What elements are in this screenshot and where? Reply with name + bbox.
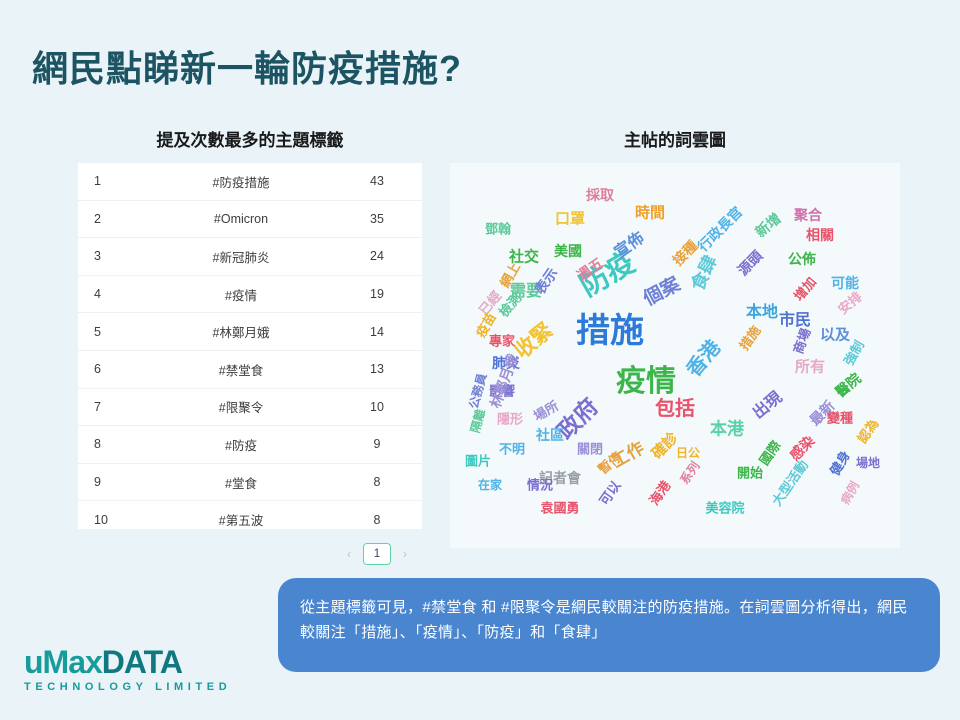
wordcloud-word: 社區 bbox=[536, 428, 564, 442]
wordcloud-word: 系列 bbox=[678, 460, 702, 487]
wordcloud-word: 本地 bbox=[746, 305, 778, 321]
wordcloud-word: 疫情 bbox=[616, 367, 676, 397]
cell-hashtag: #防疫措施 bbox=[150, 172, 332, 191]
wordcloud-word: 變種 bbox=[827, 412, 853, 425]
wordcloud-word: 時間 bbox=[635, 206, 665, 221]
cell-count: 13 bbox=[332, 362, 422, 376]
cell-rank: 1 bbox=[78, 174, 150, 188]
wordcloud-word: 公佈 bbox=[788, 252, 816, 266]
cell-rank: 10 bbox=[78, 513, 150, 527]
wordcloud-panel: 措施疫情防疫政府收緊香港包括個案食肆本港本地市民以及所有需要工作社交出現記者會確… bbox=[450, 163, 900, 548]
cell-hashtag: #林鄭月娥 bbox=[150, 322, 332, 341]
wordcloud-word: 行政長官 bbox=[695, 204, 744, 253]
table-row[interactable]: 3#新冠肺炎24 bbox=[78, 238, 422, 276]
wordcloud-word: 場地 bbox=[856, 457, 880, 469]
table-row[interactable]: 4#疫情19 bbox=[78, 276, 422, 314]
wordcloud-word: 個案 bbox=[641, 275, 683, 310]
table-row[interactable]: 7#限聚令10 bbox=[78, 389, 422, 427]
summary-callout: 從主題標籤可見，#禁堂食 和 #限聚令是網民較關注的防疫措施。在詞雲圖分析得出，… bbox=[278, 578, 940, 672]
cell-rank: 9 bbox=[78, 475, 150, 489]
cell-count: 10 bbox=[332, 400, 422, 414]
wordcloud-word: 聚合 bbox=[794, 208, 822, 222]
summary-text: 從主題標籤可見，#禁堂食 和 #限聚令是網民較關注的防疫措施。在詞雲圖分析得出，… bbox=[300, 596, 918, 646]
pagination-next-icon[interactable]: › bbox=[398, 543, 412, 565]
wordcloud-word: 美國 bbox=[554, 244, 582, 258]
wordcloud-word: 圖片 bbox=[465, 455, 491, 468]
pagination-current-page[interactable]: 1 bbox=[363, 543, 391, 565]
wordcloud-word: 在家 bbox=[478, 479, 502, 491]
cell-hashtag: #禁堂食 bbox=[150, 360, 332, 379]
table-row[interactable]: 8#防疫9 bbox=[78, 426, 422, 464]
wordcloud-word: 接種 bbox=[670, 238, 700, 268]
cell-hashtag: #新冠肺炎 bbox=[150, 247, 332, 266]
cell-count: 9 bbox=[332, 437, 422, 451]
wordcloud-word: 措施 bbox=[576, 314, 644, 348]
hashtags-section-heading: 提及次數最多的主題標籤 bbox=[78, 126, 422, 151]
wordcloud-word: 感染 bbox=[787, 433, 817, 463]
wordcloud-word: 相關 bbox=[806, 228, 834, 242]
wordcloud-word: 採取 bbox=[586, 188, 614, 202]
cell-count: 14 bbox=[332, 325, 422, 339]
wordcloud-word: 口罩 bbox=[555, 212, 585, 227]
wordcloud-word: 表示 bbox=[532, 266, 560, 297]
wordcloud-word: 可以 bbox=[597, 479, 623, 508]
wordcloud-word: 日公 bbox=[676, 447, 700, 459]
wordcloud-word: 大型活動 bbox=[770, 458, 810, 508]
wordcloud-word: 醫院 bbox=[833, 371, 863, 400]
cell-count: 19 bbox=[332, 287, 422, 301]
logo-wordmark: uMaxDATA bbox=[24, 646, 231, 678]
table-row[interactable]: 6#禁堂食13 bbox=[78, 351, 422, 389]
logo-wordmark-bold: DATA bbox=[102, 644, 182, 680]
wordcloud-word: 美容院 bbox=[705, 502, 744, 515]
wordcloud-word: 國際 bbox=[757, 439, 783, 468]
wordcloud-section-heading: 主帖的詞雲圖 bbox=[450, 126, 900, 151]
cell-count: 8 bbox=[332, 475, 422, 489]
wordcloud-word: 開始 bbox=[737, 467, 763, 480]
wordcloud-word: 安排 bbox=[836, 290, 864, 317]
wordcloud-word: 關閉 bbox=[577, 443, 603, 456]
cell-count: 8 bbox=[332, 513, 422, 527]
wordcloud-word: 食肆 bbox=[688, 253, 720, 293]
cell-hashtag: #防疫 bbox=[150, 435, 332, 454]
wordcloud-word: 袁國勇 bbox=[540, 502, 579, 515]
cell-rank: 8 bbox=[78, 437, 150, 451]
wordcloud-word: 所有 bbox=[795, 360, 825, 375]
cell-rank: 7 bbox=[78, 400, 150, 414]
cell-count: 43 bbox=[332, 174, 422, 188]
cell-count: 35 bbox=[332, 212, 422, 226]
wordcloud-word: 包括 bbox=[655, 399, 695, 419]
wordcloud-word: 海港 bbox=[647, 479, 673, 508]
table-row[interactable]: 10#第五波8 bbox=[78, 501, 422, 538]
wordcloud-word: 隔離 bbox=[469, 408, 487, 434]
wordcloud-word: 專家 bbox=[489, 335, 515, 348]
wordcloud-word: 香港 bbox=[683, 337, 724, 380]
wordcloud-word: 商場 bbox=[791, 327, 812, 356]
wordcloud-word: 場所 bbox=[531, 399, 560, 423]
wordcloud-word: 出現 bbox=[751, 390, 786, 423]
table-row[interactable]: 1#防疫措施43 bbox=[78, 163, 422, 201]
wordcloud-word: 健身 bbox=[828, 448, 852, 477]
cell-rank: 4 bbox=[78, 287, 150, 301]
hashtag-table: 1#防疫措施432#Omicron353#新冠肺炎244#疫情195#林鄭月娥1… bbox=[78, 163, 422, 529]
logo-tagline: TECHNOLOGY LIMITED bbox=[24, 681, 231, 693]
wordcloud-word: 認為 bbox=[855, 417, 881, 446]
cell-rank: 2 bbox=[78, 212, 150, 226]
table-row[interactable]: 9#堂食8 bbox=[78, 464, 422, 502]
wordcloud-word: 市民 bbox=[779, 313, 811, 329]
cell-count: 24 bbox=[332, 249, 422, 263]
pagination: ‹ 1 › bbox=[78, 543, 422, 565]
page-title: 網民點睇新一輪防疫措施? bbox=[32, 40, 462, 92]
cell-hashtag: #Omicron bbox=[150, 212, 332, 226]
cell-hashtag: #第五波 bbox=[150, 510, 332, 529]
wordcloud-word: 以及 bbox=[820, 328, 850, 343]
wordcloud-word: 不明 bbox=[499, 443, 525, 456]
cell-rank: 6 bbox=[78, 362, 150, 376]
wordcloud-word: 情況 bbox=[527, 479, 553, 492]
wordcloud-word: 源頭 bbox=[735, 248, 765, 278]
wordcloud-word: 公務員 bbox=[468, 372, 489, 410]
cell-hashtag: #堂食 bbox=[150, 473, 332, 492]
cell-hashtag: #限聚令 bbox=[150, 397, 332, 416]
company-logo: uMaxDATA TECHNOLOGY LIMITED bbox=[24, 646, 231, 693]
wordcloud-word: 增加 bbox=[792, 275, 819, 303]
wordcloud-word: 措施 bbox=[737, 324, 763, 353]
logo-wordmark-light: uMax bbox=[24, 644, 102, 680]
pagination-prev-icon[interactable]: ‹ bbox=[342, 543, 356, 565]
wordcloud-word: 鄧翰 bbox=[485, 223, 511, 236]
cell-hashtag: #疫情 bbox=[150, 285, 332, 304]
cell-rank: 5 bbox=[78, 325, 150, 339]
wordcloud-word: 隱形 bbox=[497, 413, 523, 426]
wordcloud-canvas: 措施疫情防疫政府收緊香港包括個案食肆本港本地市民以及所有需要工作社交出現記者會確… bbox=[450, 163, 900, 548]
table-row[interactable]: 5#林鄭月娥14 bbox=[78, 313, 422, 351]
table-row[interactable]: 2#Omicron35 bbox=[78, 201, 422, 239]
wordcloud-word: 新增 bbox=[753, 211, 783, 240]
wordcloud-word: 本港 bbox=[710, 421, 744, 438]
wordcloud-word: 病例 bbox=[839, 480, 861, 507]
cell-rank: 3 bbox=[78, 249, 150, 263]
